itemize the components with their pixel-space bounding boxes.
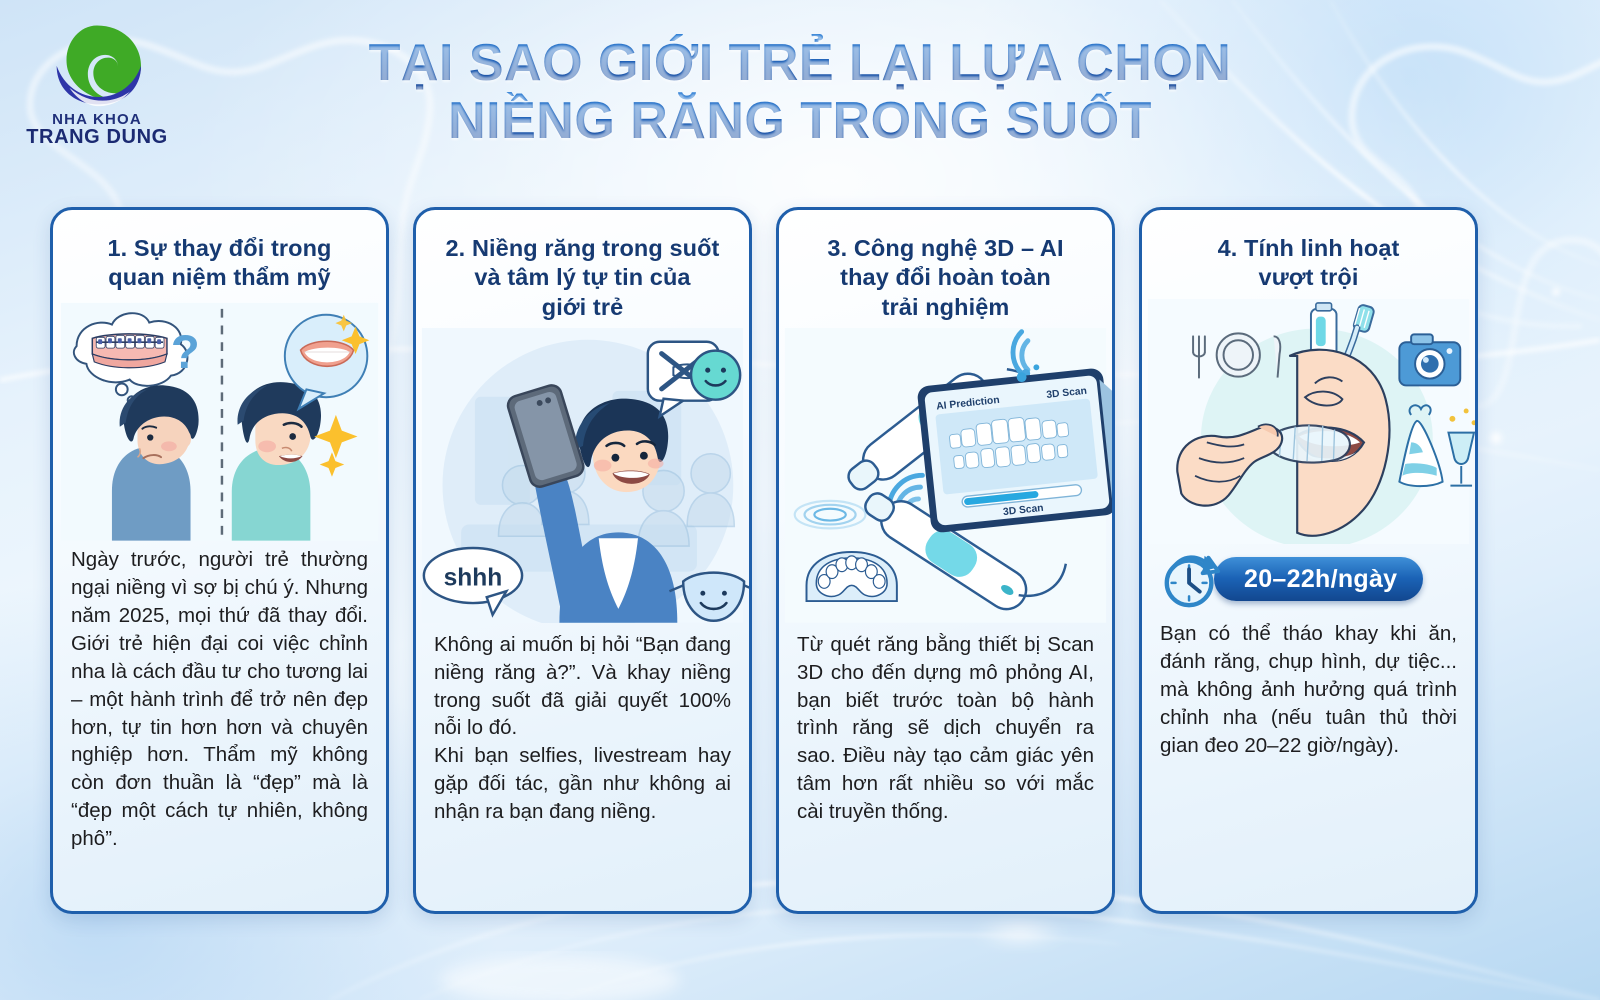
title-line-2: NIỀNG RĂNG TRONG SUỐT xyxy=(300,92,1300,150)
removable-aligner-lifestyle-illustration xyxy=(1142,299,1475,545)
card-2-body: Không ai muốn bị hỏi “Bạn đang niềng răn… xyxy=(416,623,749,840)
poster-title: TẠI SAO GIỚI TRẺ LẠI LỰA CHỌN NIỀNG RĂNG… xyxy=(300,34,1300,150)
wear-time-label: 20–22h/ngày xyxy=(1214,557,1423,601)
card-4-art xyxy=(1142,299,1475,545)
shhh-label: shhh xyxy=(444,564,503,591)
infographic-poster: NHA KHOA TRANG DUNG TẠI SAO GIỚI TRẺ LẠI… xyxy=(0,0,1600,1000)
card-1-art: ? xyxy=(53,299,386,545)
card-4: 4. Tính linh hoạtvượt trội xyxy=(1139,207,1478,914)
title-line-1: TẠI SAO GIỚI TRẺ LẠI LỰA CHỌN xyxy=(300,34,1300,92)
selfie-crowd-illustration: shhh xyxy=(416,328,749,623)
card-3-body: Từ quét răng bằng thiết bị Scan 3D cho đ… xyxy=(779,623,1112,840)
intraoral-scanner-tablet-illustration: AI Prediction 3D Scan 3D Scan xyxy=(779,328,1112,623)
card-2-title: 2. Niềng răng trong suốtvà tâm lý tự tin… xyxy=(416,210,749,328)
dental-crescent-logo-icon xyxy=(42,18,152,110)
card-4-title: 4. Tính linh hoạtvượt trội xyxy=(1142,210,1475,299)
question-mark-label: ? xyxy=(171,325,200,378)
card-3-title: 3. Công nghệ 3D – AIthay đổi hoàn toàntr… xyxy=(779,210,1112,328)
wear-time-badge: 20–22h/ngày xyxy=(1160,548,1475,610)
logo-line-2: TRANG DUNG xyxy=(22,126,172,149)
card-2-art: shhh xyxy=(416,328,749,623)
clock-rotate-icon xyxy=(1160,548,1222,610)
card-1-body: Ngày trước, người trẻ thường ngại niềng … xyxy=(53,544,386,867)
card-1-title: 1. Sự thay đổi trongquan niệm thẩm mỹ xyxy=(53,210,386,299)
brand-logo: NHA KHOA TRANG DUNG xyxy=(22,18,172,149)
cards-row: 1. Sự thay đổi trongquan niệm thẩm mỹ xyxy=(50,207,1550,914)
before-after-profile-illustration: ? xyxy=(53,299,386,545)
card-2: 2. Niềng răng trong suốtvà tâm lý tự tin… xyxy=(413,207,752,914)
card-1: 1. Sự thay đổi trongquan niệm thẩm mỹ xyxy=(50,207,389,914)
card-3: 3. Công nghệ 3D – AIthay đổi hoàn toàntr… xyxy=(776,207,1115,914)
card-4-body: Bạn có thể tháo khay khi ăn, đánh răng, … xyxy=(1142,612,1475,773)
card-3-art: AI Prediction 3D Scan 3D Scan xyxy=(779,328,1112,623)
